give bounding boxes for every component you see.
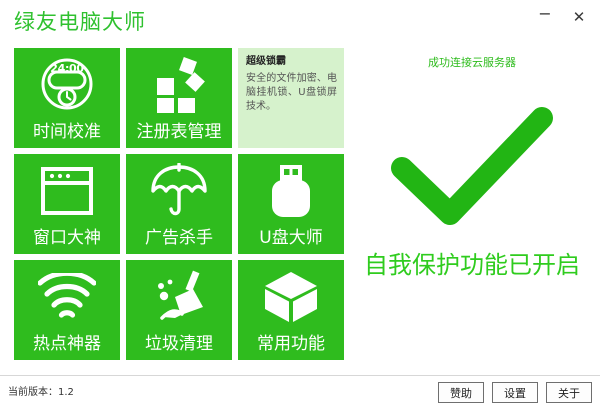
tile-ad-killer[interactable]: 广告杀手	[126, 154, 232, 254]
about-button[interactable]: 关于	[546, 382, 592, 403]
footer-bar: 当前版本：1.2 赞助 设置 关于	[0, 375, 600, 410]
minimize-button[interactable]: −	[534, 4, 556, 30]
tile-common-functions[interactable]: 常用功能	[238, 260, 344, 360]
page-title: 绿友电脑大师	[14, 9, 146, 35]
sponsor-button[interactable]: 赞助	[438, 382, 484, 403]
self-protection-status: 自我保护功能已开启	[352, 250, 592, 280]
footer-buttons: 赞助 设置 关于	[438, 382, 592, 403]
tile-time-calibration[interactable]: 24:00 时间校准	[14, 48, 120, 148]
promo-description: 安全的文件加密、电脑挂机锁、U盘锁屏技术。	[246, 72, 337, 114]
status-panel: 成功连接云服务器 自我保护功能已开启	[352, 48, 592, 360]
tile-label: 时间校准	[14, 122, 120, 143]
cloud-connection-text: 成功连接云服务器	[352, 56, 592, 70]
window-controls: − ✕	[534, 4, 590, 30]
tile-usb-master[interactable]: U盘大师	[238, 154, 344, 254]
tile-super-lock-promo[interactable]: 超级锁霸 安全的文件加密、电脑挂机锁、U盘锁屏技术。	[238, 48, 344, 148]
tile-label: 垃圾清理	[126, 334, 232, 355]
umbrella-icon	[126, 162, 232, 220]
wifi-hotspot-icon	[14, 268, 120, 326]
promo-title: 超级锁霸	[246, 55, 338, 68]
registry-blocks-icon	[126, 56, 232, 114]
broom-icon	[126, 268, 232, 326]
title-bar: 绿友电脑大师 − ✕	[0, 0, 600, 44]
close-button[interactable]: ✕	[568, 7, 590, 27]
clock-value-text: 24:00	[14, 62, 120, 75]
settings-button[interactable]: 设置	[492, 382, 538, 403]
tile-junk-cleanup[interactable]: 垃圾清理	[126, 260, 232, 360]
tile-hotspot-tool[interactable]: 热点神器	[14, 260, 120, 360]
tile-window-master[interactable]: 窗口大神	[14, 154, 120, 254]
green-checkmark-icon	[352, 90, 592, 240]
window-icon	[14, 162, 120, 220]
tile-label: 热点神器	[14, 334, 120, 355]
tile-label: 注册表管理	[126, 122, 232, 143]
version-label: 当前版本：1.2	[8, 386, 74, 399]
tile-label: 广告杀手	[126, 228, 232, 249]
tile-label: 窗口大神	[14, 228, 120, 249]
tile-label: U盘大师	[238, 228, 344, 249]
box-3d-icon	[238, 268, 344, 326]
app-window: 绿友电脑大师 − ✕ 24:00 时间校准	[0, 0, 600, 410]
tile-registry-manager[interactable]: 注册表管理	[126, 48, 232, 148]
feature-tile-grid: 24:00 时间校准 注册表管理 超级锁霸 安全的文件加密、电脑挂机锁、U盘锁屏…	[14, 48, 346, 360]
usb-drive-icon	[238, 162, 344, 220]
tile-label: 常用功能	[238, 334, 344, 355]
